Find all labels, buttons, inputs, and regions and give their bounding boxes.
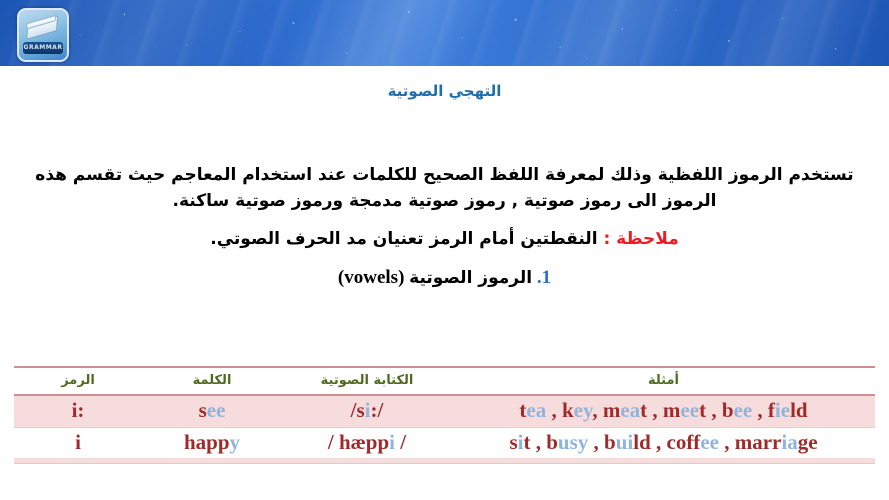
section-number: 1.	[537, 267, 551, 288]
cell-examples	[452, 458, 875, 464]
cell-phonetic: / hæppi /	[282, 427, 452, 458]
text-segment: happ	[184, 430, 230, 454]
table-row	[14, 458, 875, 464]
text-segment: , marr	[719, 430, 781, 454]
cell-phonetic: /si:/	[282, 395, 452, 427]
text-segment: :/	[371, 398, 384, 422]
cell-examples: tea , key, meat , meet , bee , field	[452, 395, 875, 427]
book-icon	[24, 13, 61, 41]
vowel-highlight: ee	[734, 398, 753, 422]
table-row: i:see/si:/tea , key, meat , meet , bee ,…	[14, 395, 875, 427]
text-segment: t , b	[699, 398, 733, 422]
column-header-phonetic: الكتابة الصوتية	[282, 367, 452, 395]
text-segment: / hæpp	[328, 430, 389, 454]
table-body: i:see/si:/tea , key, meat , meet , bee ,…	[14, 395, 875, 464]
header-banner: GRAMMAR	[0, 0, 889, 66]
vowel-highlight: ey	[574, 398, 593, 422]
text-segment: s	[509, 430, 517, 454]
text-segment: i:	[72, 398, 85, 422]
cell-phonetic	[282, 458, 452, 464]
banner-streaks	[0, 0, 889, 66]
table-header: الرمز الكلمة الكتابة الصوتية أمثلة	[14, 367, 875, 395]
text-segment: s	[199, 398, 207, 422]
cell-word	[142, 458, 282, 464]
vowel-highlight: usy	[558, 430, 588, 454]
text-segment: , f	[752, 398, 775, 422]
column-header-word: الكلمة	[142, 367, 282, 395]
text-segment: i	[75, 430, 81, 454]
vowel-highlight: ee	[207, 398, 226, 422]
text-segment: ge	[798, 430, 818, 454]
text-segment: /s	[351, 398, 365, 422]
cell-symbol: i	[14, 427, 142, 458]
table-row: ihappy/ hæppi /sit , busy , build , coff…	[14, 427, 875, 458]
page-root: GRAMMAR التهجي الصوتية تستخدم الرموز الل…	[0, 0, 889, 500]
note-text: النقطتين أمام الرمز تعنيان مد الحرف الصو…	[210, 229, 597, 249]
logo-label: GRAMMAR	[24, 45, 63, 51]
vowel-highlight: ee	[700, 430, 719, 454]
column-header-examples: أمثلة	[452, 367, 875, 395]
text-segment: t , m	[640, 398, 680, 422]
section-title-arabic: الرموز الصوتية	[409, 268, 532, 288]
vowel-highlight: y	[230, 430, 241, 454]
text-segment: /	[395, 430, 406, 454]
banner-sparkles	[0, 0, 889, 66]
text-segment: , k	[546, 398, 573, 422]
note-line: ملاحظة : النقطتين أمام الرمز تعنيان مد ا…	[0, 215, 889, 249]
cell-word: see	[142, 395, 282, 427]
text-segment: t , b	[523, 430, 557, 454]
intro-paragraph: تستخدم الرموز اللفظية وذلك لمعرفة اللفظ …	[0, 100, 889, 215]
vowel-highlight: ie	[775, 398, 790, 422]
cell-symbol	[14, 458, 142, 464]
table-header-row: الرمز الكلمة الكتابة الصوتية أمثلة	[14, 367, 875, 395]
vowel-table: الرمز الكلمة الكتابة الصوتية أمثلة i:see…	[14, 366, 875, 464]
text-segment: , b	[588, 430, 615, 454]
note-keyword: ملاحظة :	[603, 229, 678, 249]
vowel-table-wrapper: الرمز الكلمة الكتابة الصوتية أمثلة i:see…	[14, 366, 875, 464]
vowel-highlight: ea	[620, 398, 640, 422]
vowel-highlight: ia	[781, 430, 797, 454]
section-title-english: (vowels)	[338, 267, 404, 288]
logo-ribbon: GRAMMAR	[23, 42, 63, 54]
text-segment: ld , coff	[633, 430, 700, 454]
column-header-symbol: الرمز	[14, 367, 142, 395]
cell-symbol: i:	[14, 395, 142, 427]
grammar-logo: GRAMMAR	[17, 8, 69, 62]
page-title: التهجي الصوتية	[0, 66, 889, 100]
vowel-highlight: ea	[526, 398, 546, 422]
cell-examples: sit , busy , build , coffee , marriage	[452, 427, 875, 458]
text-segment: , m	[592, 398, 620, 422]
section-heading: 1. الرموز الصوتية (vowels)	[0, 249, 889, 289]
vowel-highlight: ui	[616, 430, 634, 454]
vowel-highlight: ee	[680, 398, 699, 422]
text-segment: ld	[790, 398, 808, 422]
cell-word: happy	[142, 427, 282, 458]
